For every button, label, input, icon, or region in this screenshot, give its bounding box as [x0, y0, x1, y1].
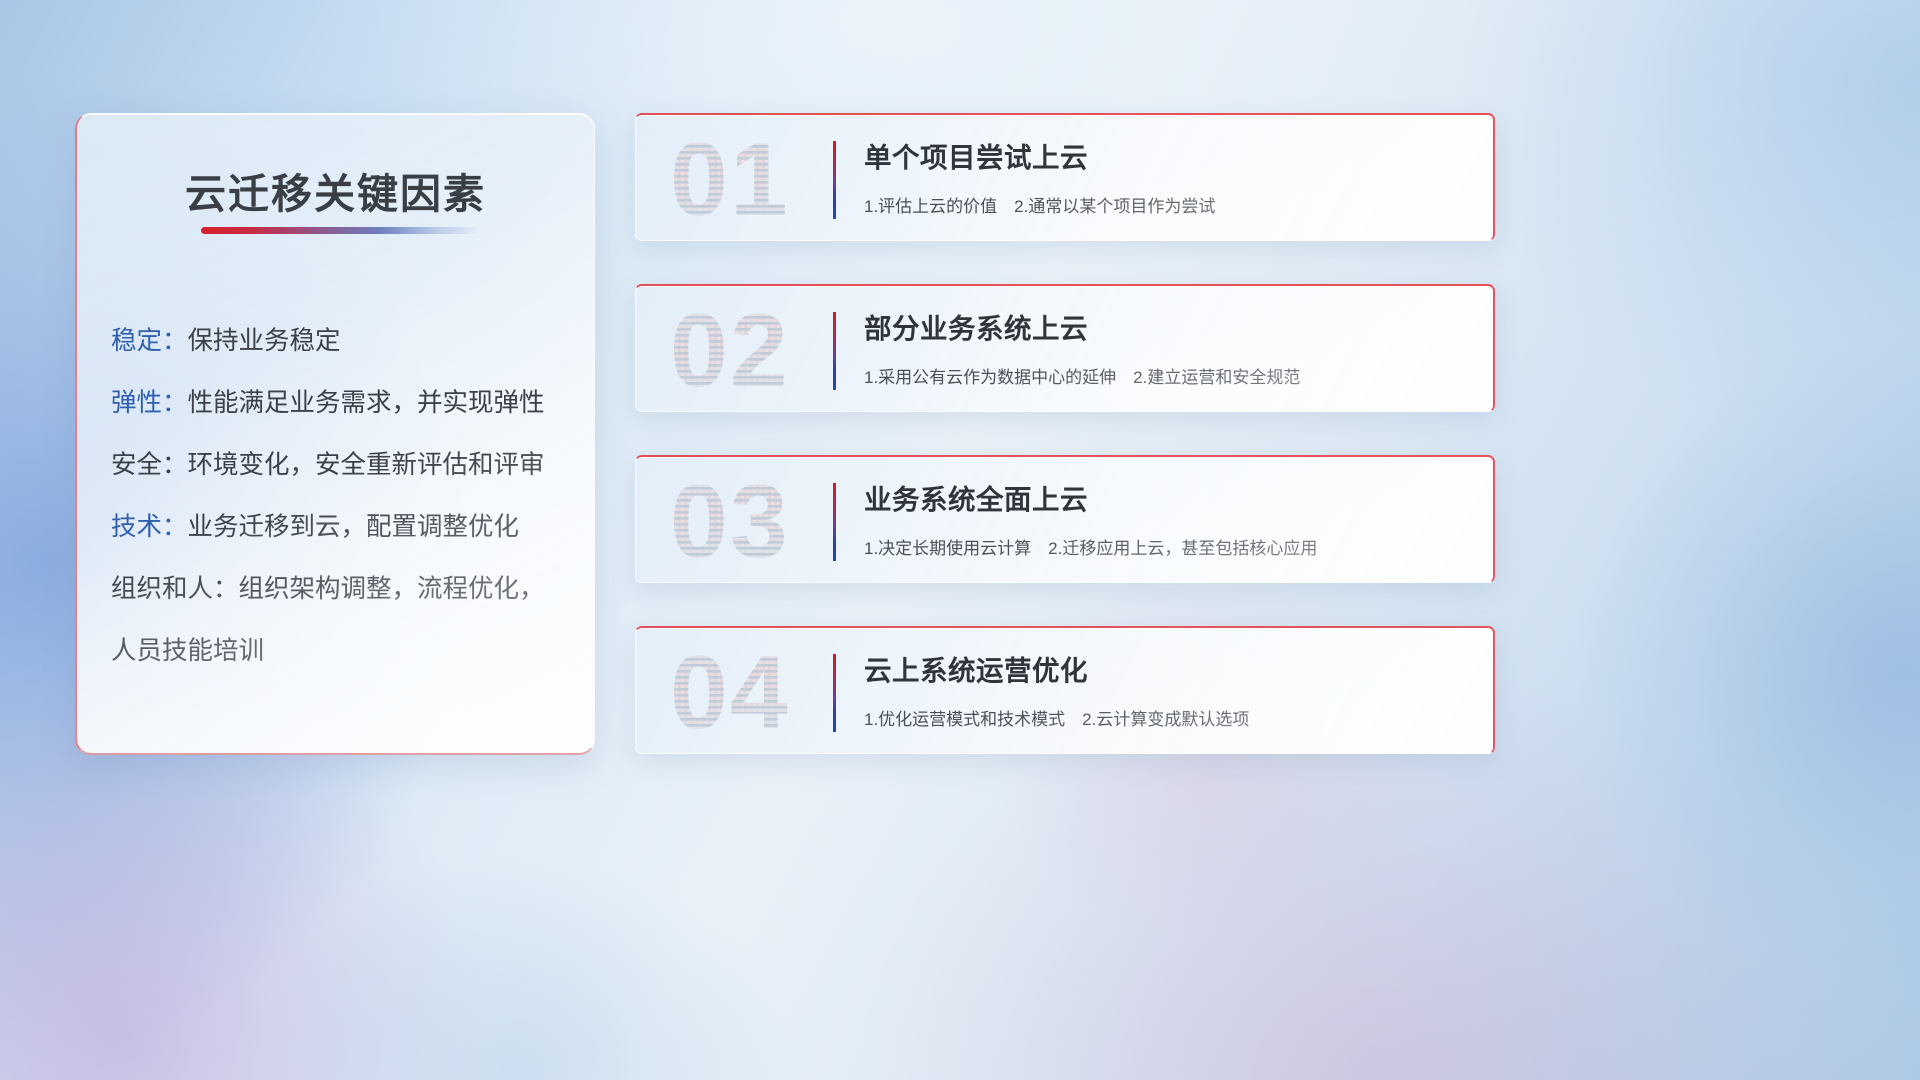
factor-list: 稳定：保持业务稳定弹性：性能满足业务需求，并实现弹性安全：环境变化，安全重新评估… [77, 310, 594, 682]
factor-value: 业务迁移到云，配置调整优化 [188, 513, 520, 541]
factor-value: 性能满足业务需求，并实现弹性 [188, 389, 545, 417]
card-text-block: 云上系统运营优化1.优化运营模式和技术模式 2.云计算变成默认选项 [864, 648, 1477, 730]
card-text-block: 业务系统全面上云1.决定长期使用云计算 2.迁移应用上云，甚至包括核心应用 [864, 477, 1477, 559]
stage-card[interactable]: 04云上系统运营优化1.优化运营模式和技术模式 2.云计算变成默认选项 [635, 626, 1495, 754]
factor-label: 组织和人： [111, 575, 239, 603]
factor-row: 组织和人：组织架构调整，流程优化， [77, 558, 594, 620]
card-description: 1.优化运营模式和技术模式 2.云计算变成默认选项 [864, 705, 1477, 730]
factor-row: 安全：环境变化，安全重新评估和评审 [77, 434, 594, 496]
card-description: 1.评估上云的价值 2.通常以某个项目作为尝试 [864, 192, 1477, 217]
card-title: 业务系统全面上云 [864, 477, 1477, 517]
factor-value: 人员技能培训 [111, 637, 264, 665]
factor-label: 技术： [111, 513, 188, 541]
stage-card[interactable]: 03业务系统全面上云1.决定长期使用云计算 2.迁移应用上云，甚至包括核心应用 [635, 455, 1495, 583]
card-accent-divider [833, 141, 836, 219]
stage-card[interactable]: 02部分业务系统上云1.采用公有云作为数据中心的延伸 2.建立运营和安全规范 [635, 284, 1495, 412]
stage-card-list: 01单个项目尝试上云1.评估上云的价值 2.通常以某个项目作为尝试02部分业务系… [635, 113, 1495, 754]
factor-label: 弹性： [111, 389, 188, 417]
card-text-block: 部分业务系统上云1.采用公有云作为数据中心的延伸 2.建立运营和安全规范 [864, 306, 1477, 388]
factor-row: 弹性：性能满足业务需求，并实现弹性 [77, 372, 594, 434]
card-accent-divider [833, 654, 836, 732]
factor-value: 组织架构调整，流程优化， [239, 575, 545, 603]
card-title: 单个项目尝试上云 [864, 135, 1477, 175]
card-title: 部分业务系统上云 [864, 306, 1477, 346]
card-description: 1.决定长期使用云计算 2.迁移应用上云，甚至包括核心应用 [864, 534, 1477, 559]
factor-value: 保持业务稳定 [188, 327, 341, 355]
title-underline-rule [201, 227, 481, 234]
card-description: 1.采用公有云作为数据中心的延伸 2.建立运营和安全规范 [864, 363, 1477, 388]
key-factors-panel: 云迁移关键因素 稳定：保持业务稳定弹性：性能满足业务需求，并实现弹性安全：环境变… [75, 113, 595, 755]
stage-number-glyph: 01 [668, 127, 818, 233]
stage-number-glyph: 03 [668, 469, 818, 575]
stage-number-glyph: 04 [668, 640, 818, 746]
card-title: 云上系统运营优化 [864, 648, 1477, 688]
factor-value: 环境变化，安全重新评估和评审 [188, 451, 545, 479]
factor-row: 技术：业务迁移到云，配置调整优化 [77, 496, 594, 558]
stage-card[interactable]: 01单个项目尝试上云1.评估上云的价值 2.通常以某个项目作为尝试 [635, 113, 1495, 241]
card-text-block: 单个项目尝试上云1.评估上云的价值 2.通常以某个项目作为尝试 [864, 135, 1477, 217]
card-accent-divider [833, 312, 836, 390]
card-accent-divider [833, 483, 836, 561]
factor-row: 稳定：保持业务稳定 [77, 310, 594, 372]
stage-number-glyph: 02 [668, 298, 818, 404]
factor-label: 稳定： [111, 327, 188, 355]
page-title: 云迁移关键因素 [77, 160, 594, 220]
factor-row: 人员技能培训 [77, 620, 594, 682]
factor-label: 安全： [111, 451, 188, 479]
